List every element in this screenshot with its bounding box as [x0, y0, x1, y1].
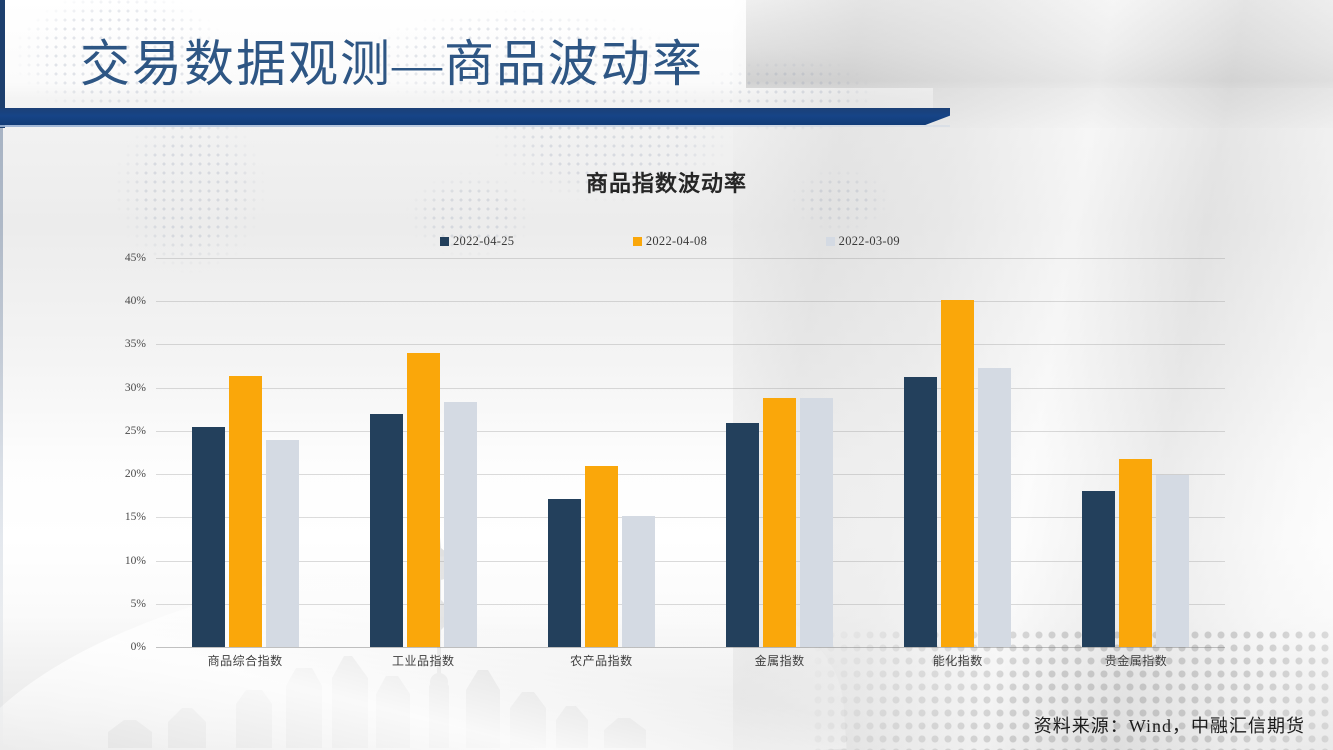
chart-legend: 2022-04-252022-04-082022-03-09 — [440, 234, 900, 249]
bar[interactable] — [548, 499, 581, 647]
bar[interactable] — [444, 402, 477, 647]
x-axis-tick-label: 商品综合指数 — [156, 652, 334, 669]
legend-swatch-icon — [633, 237, 642, 246]
bar[interactable] — [229, 376, 262, 647]
bar-group — [1047, 258, 1225, 647]
slide-root: 交易数据观测—商品波动率 商品指数波动率 2022-04-252022-04-0… — [0, 0, 1333, 750]
title-underline-hairline — [0, 125, 950, 127]
bar-group — [156, 258, 334, 647]
y-axis-tick-label: 40% — [125, 295, 146, 307]
chart-bars — [156, 258, 1225, 647]
legend-swatch-icon — [440, 237, 449, 246]
legend-label: 2022-03-09 — [839, 234, 900, 249]
x-axis-tick-label: 农产品指数 — [512, 652, 690, 669]
bar[interactable] — [192, 427, 225, 647]
legend-item[interactable]: 2022-04-25 — [440, 234, 514, 249]
legend-swatch-icon — [826, 237, 835, 246]
bar[interactable] — [266, 440, 299, 647]
y-axis-tick-label: 5% — [131, 598, 146, 610]
bar[interactable] — [941, 300, 974, 648]
y-axis-tick-label: 35% — [125, 338, 146, 350]
x-axis-tick-label: 能化指数 — [869, 652, 1047, 669]
bar-group — [869, 258, 1047, 647]
bar[interactable] — [407, 353, 440, 647]
bar[interactable] — [1119, 459, 1152, 647]
legend-label: 2022-04-25 — [453, 234, 514, 249]
legend-item[interactable]: 2022-04-08 — [633, 234, 707, 249]
bar[interactable] — [726, 423, 759, 647]
bar[interactable] — [370, 414, 403, 647]
x-axis-tick-label: 贵金属指数 — [1047, 652, 1225, 669]
y-axis-labels: 0%5%10%15%20%25%30%35%40%45% — [110, 258, 150, 647]
bar-group — [334, 258, 512, 647]
y-axis-tick-label: 30% — [125, 382, 146, 394]
bar[interactable] — [585, 466, 618, 647]
bar-group — [691, 258, 869, 647]
bar[interactable] — [763, 398, 796, 647]
y-axis-tick-label: 10% — [125, 555, 146, 567]
bar[interactable] — [1156, 475, 1189, 647]
bar[interactable] — [622, 516, 655, 647]
bar-group — [512, 258, 690, 647]
x-axis-tick-label: 工业品指数 — [334, 652, 512, 669]
bar[interactable] — [904, 377, 937, 647]
x-axis-labels: 商品综合指数工业品指数农产品指数金属指数能化指数贵金属指数 — [156, 652, 1225, 669]
bar[interactable] — [978, 368, 1011, 647]
bar[interactable] — [1082, 491, 1115, 647]
x-axis-tick-label: 金属指数 — [691, 652, 869, 669]
title-underline-bar — [0, 108, 950, 125]
chart-plot-area: 0%5%10%15%20%25%30%35%40%45% — [110, 258, 1225, 658]
y-axis-tick-label: 45% — [125, 252, 146, 264]
left-accent-stripe-lower — [0, 128, 3, 750]
y-axis-tick-label: 0% — [131, 641, 146, 653]
y-axis-tick-label: 15% — [125, 511, 146, 523]
y-axis-tick-label: 20% — [125, 468, 146, 480]
axis-baseline — [156, 647, 1225, 648]
legend-label: 2022-04-08 — [646, 234, 707, 249]
legend-item[interactable]: 2022-03-09 — [826, 234, 900, 249]
source-note: 资料来源：Wind，中融汇信期货 — [1034, 712, 1305, 738]
chart-title: 商品指数波动率 — [0, 166, 1333, 198]
y-axis-tick-label: 25% — [125, 425, 146, 437]
page-title: 交易数据观测—商品波动率 — [80, 33, 704, 95]
bar[interactable] — [800, 398, 833, 647]
